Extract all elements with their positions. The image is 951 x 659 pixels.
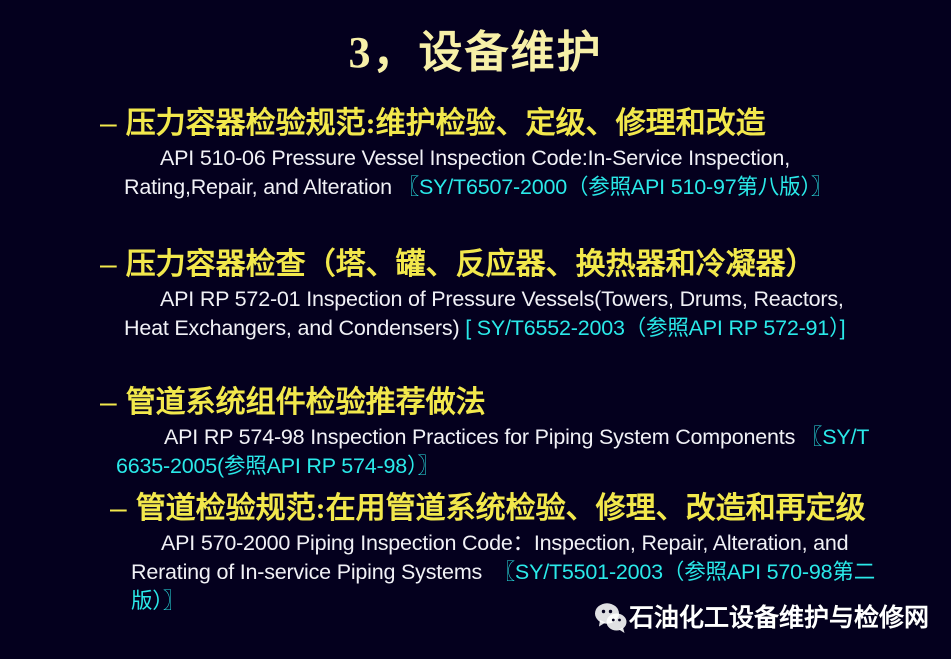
section-heading-text-4: 管道检验规范:在用管道系统检验、修理、改造和再定级 <box>136 492 866 525</box>
bullet-dash-4: – <box>110 492 136 525</box>
bullet-dash-2: – <box>100 248 126 281</box>
slide-canvas: 3，设备维护 –压力容器检验规范:维护检验、定级、修理和改造 API 510-0… <box>0 0 951 659</box>
section-block-2: –压力容器检查（塔、罐、反应器、换热器和冷凝器） API RP 572-01 I… <box>0 245 951 343</box>
section-heading-text-2: 压力容器检查（塔、罐、反应器、换热器和冷凝器） <box>126 248 816 281</box>
bullet-dash-1: – <box>100 107 126 140</box>
section-heading-text-3: 管道系统组件检验推荐做法 <box>126 386 486 419</box>
section-heading-1: –压力容器检验规范:维护检验、定级、修理和改造 <box>0 104 951 144</box>
section-body-4: API 570-2000 Piping Inspection Code：Insp… <box>0 529 951 616</box>
section-block-4: –管道检验规范:在用管道系统检验、修理、改造和再定级 API 570-2000 … <box>0 489 951 616</box>
section-block-3: –管道系统组件检验推荐做法 API RP 574-98 Inspection P… <box>0 383 951 481</box>
section-body-en-3: API RP 574-98 Inspection Practices for P… <box>164 425 801 449</box>
section-reference-2: [ SY/T6552-2003（参照API RP 572-91）] <box>465 316 845 340</box>
section-body-3: API RP 574-98 Inspection Practices for P… <box>0 423 951 481</box>
section-body-2: API RP 572-01 Inspection of Pressure Ves… <box>0 285 951 343</box>
section-heading-4: –管道检验规范:在用管道系统检验、修理、改造和再定级 <box>0 489 951 529</box>
section-heading-text-1: 压力容器检验规范:维护检验、定级、修理和改造 <box>126 107 766 140</box>
section-reference-1: 〖SY/T6507-2000（参照API 510-97第八版）〗 <box>398 175 833 199</box>
section-block-1: –压力容器检验规范:维护检验、定级、修理和改造 API 510-06 Press… <box>0 104 951 202</box>
section-heading-2: –压力容器检查（塔、罐、反应器、换热器和冷凝器） <box>0 245 951 285</box>
section-body-1: API 510-06 Pressure Vessel Inspection Co… <box>0 144 951 202</box>
bullet-dash-3: – <box>100 386 126 419</box>
section-heading-3: –管道系统组件检验推荐做法 <box>0 383 951 423</box>
page-title: 3，设备维护 <box>0 28 951 78</box>
